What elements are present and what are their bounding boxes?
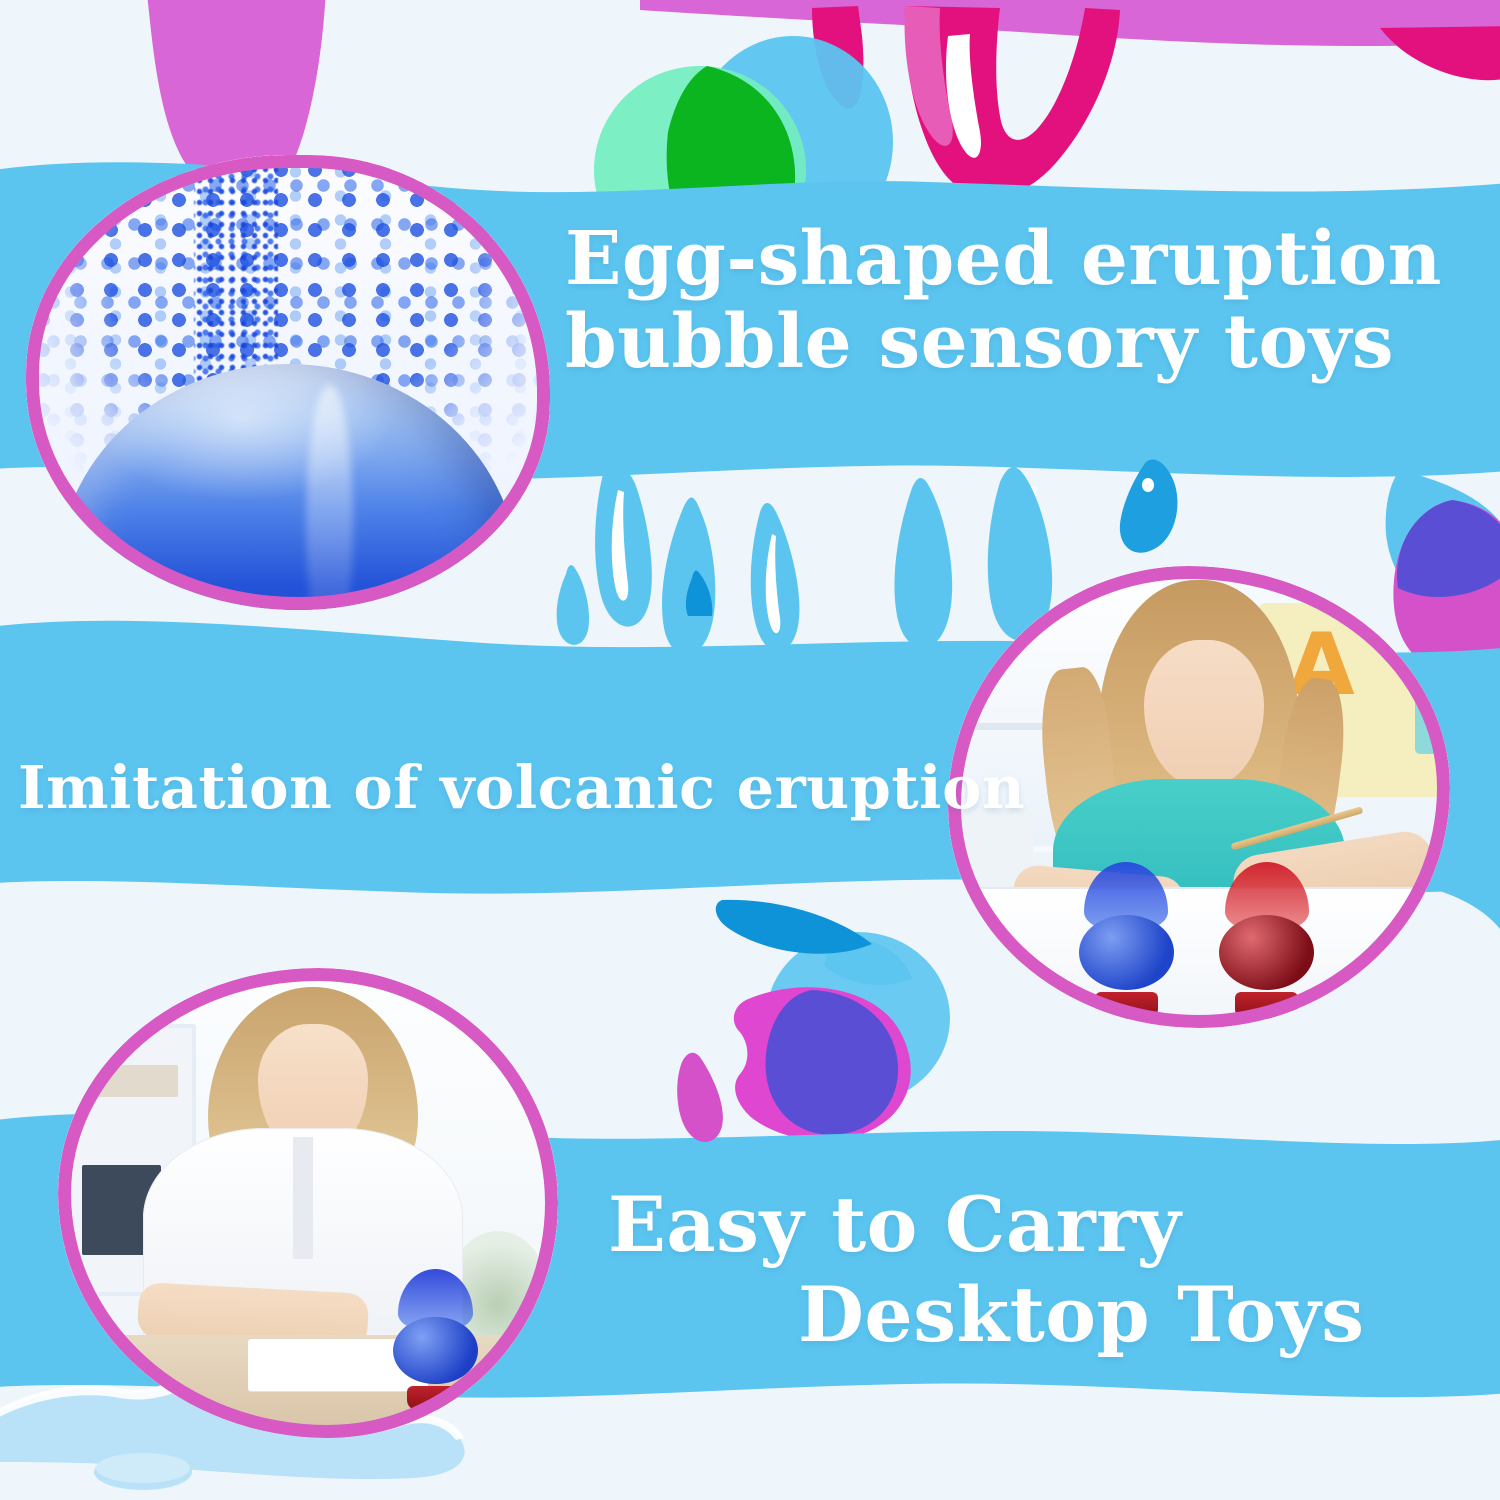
headline-volcanic-eruption: Imitation of volcanic eruption — [18, 758, 1025, 818]
egg-scene — [26, 155, 550, 610]
photo-woman-scientist — [58, 968, 558, 1438]
toy-base — [1235, 992, 1298, 1019]
toy-blue-egg — [1079, 862, 1174, 1019]
photo-woman-content — [58, 968, 558, 1438]
headline-product-title: Egg-shaped eruption bubble sensory toys — [565, 222, 1442, 381]
office-scene — [58, 968, 558, 1438]
headline-easy-to-carry: Easy to Carry Desktop Toys — [608, 1186, 1365, 1353]
headline-carry-line2: Desktop Toys — [798, 1276, 1365, 1354]
table — [948, 889, 1450, 1028]
toy-red-egg — [1219, 862, 1314, 1019]
headline-carry-line1: Easy to Carry — [608, 1180, 1181, 1269]
toy-base — [1095, 992, 1158, 1019]
toy-blue-egg — [393, 1269, 478, 1410]
headline-title-line2: bubble sensory toys — [565, 305, 1442, 380]
toy-base — [407, 1386, 463, 1410]
photo-blue-egg-content — [26, 155, 550, 610]
photo-blue-egg-eruption — [26, 155, 550, 610]
small-blue-oval-highlight — [96, 1453, 190, 1483]
toy-bulb — [1079, 915, 1174, 990]
toy-bulb — [393, 1317, 478, 1385]
headline-title-line1: Egg-shaped eruption — [565, 216, 1442, 302]
blue-droplet-glint — [1142, 478, 1154, 492]
product-feature-poster: Egg-shaped eruption bubble sensory toys … — [0, 0, 1500, 1500]
toy-bulb — [1219, 915, 1314, 990]
